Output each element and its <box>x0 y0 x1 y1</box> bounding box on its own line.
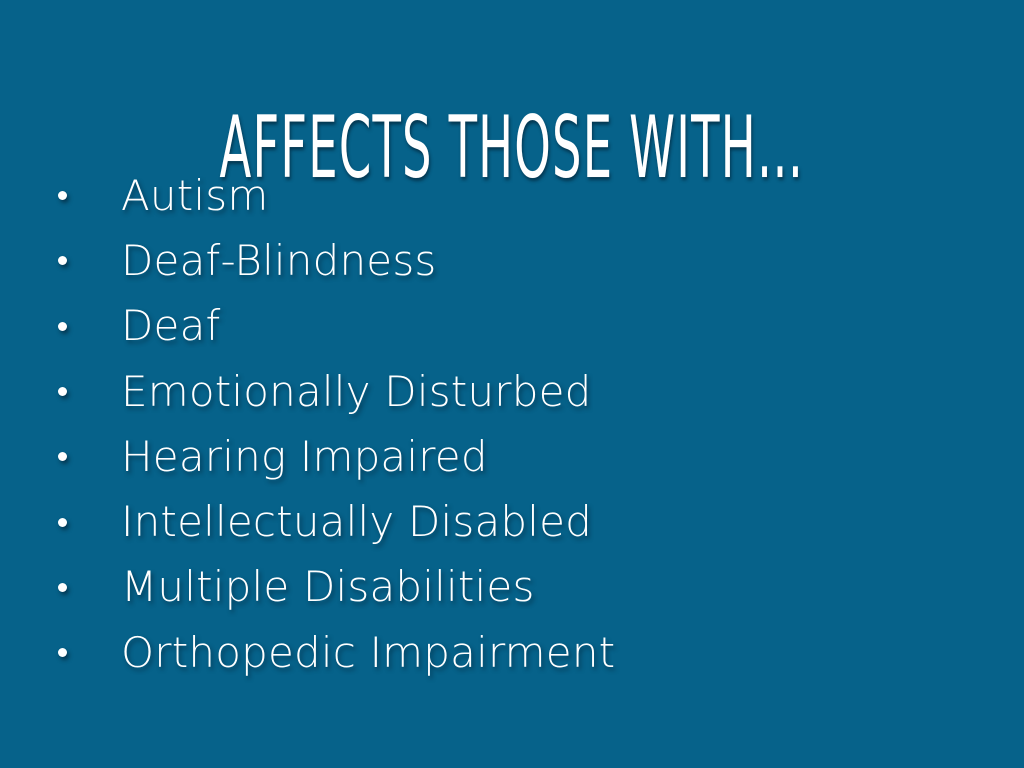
list-item: Hearing Impaired <box>0 424 1024 489</box>
list-item-label: Hearing Impaired <box>121 433 488 481</box>
bullet-point-icon <box>58 191 67 200</box>
bullet-point-icon <box>58 583 67 592</box>
list-item-label: Autism <box>121 172 268 220</box>
list-item: Emotionally Disturbed <box>0 359 1024 424</box>
bullet-point-icon <box>58 387 67 396</box>
list-item: Autism <box>0 163 1024 228</box>
list-item-label: Deaf-Blindness <box>121 237 437 285</box>
list-item-label: Multiple Disabilities <box>121 563 535 611</box>
list-item: Multiple Disabilities <box>0 555 1024 620</box>
bullet-list: Autism Deaf-Blindness Deaf Emotionally D… <box>0 163 1024 685</box>
list-item: Orthopedic Impairment <box>0 620 1024 685</box>
list-item: Deaf <box>0 294 1024 359</box>
bullet-point-icon <box>58 322 67 331</box>
list-item: Deaf-Blindness <box>0 228 1024 293</box>
bullet-point-icon <box>58 648 67 657</box>
presentation-slide: AFFECTS THOSE WITH… Autism Deaf-Blindnes… <box>0 0 1024 768</box>
list-item: Intellectually Disabled <box>0 489 1024 554</box>
list-item-label: Intellectually Disabled <box>121 498 592 546</box>
list-item-label: Deaf <box>121 302 221 350</box>
bullet-point-icon <box>58 452 67 461</box>
list-item-label: Emotionally Disturbed <box>121 368 592 416</box>
list-item-label: Orthopedic Impairment <box>121 629 615 677</box>
bullet-point-icon <box>58 256 67 265</box>
bullet-point-icon <box>58 518 67 527</box>
